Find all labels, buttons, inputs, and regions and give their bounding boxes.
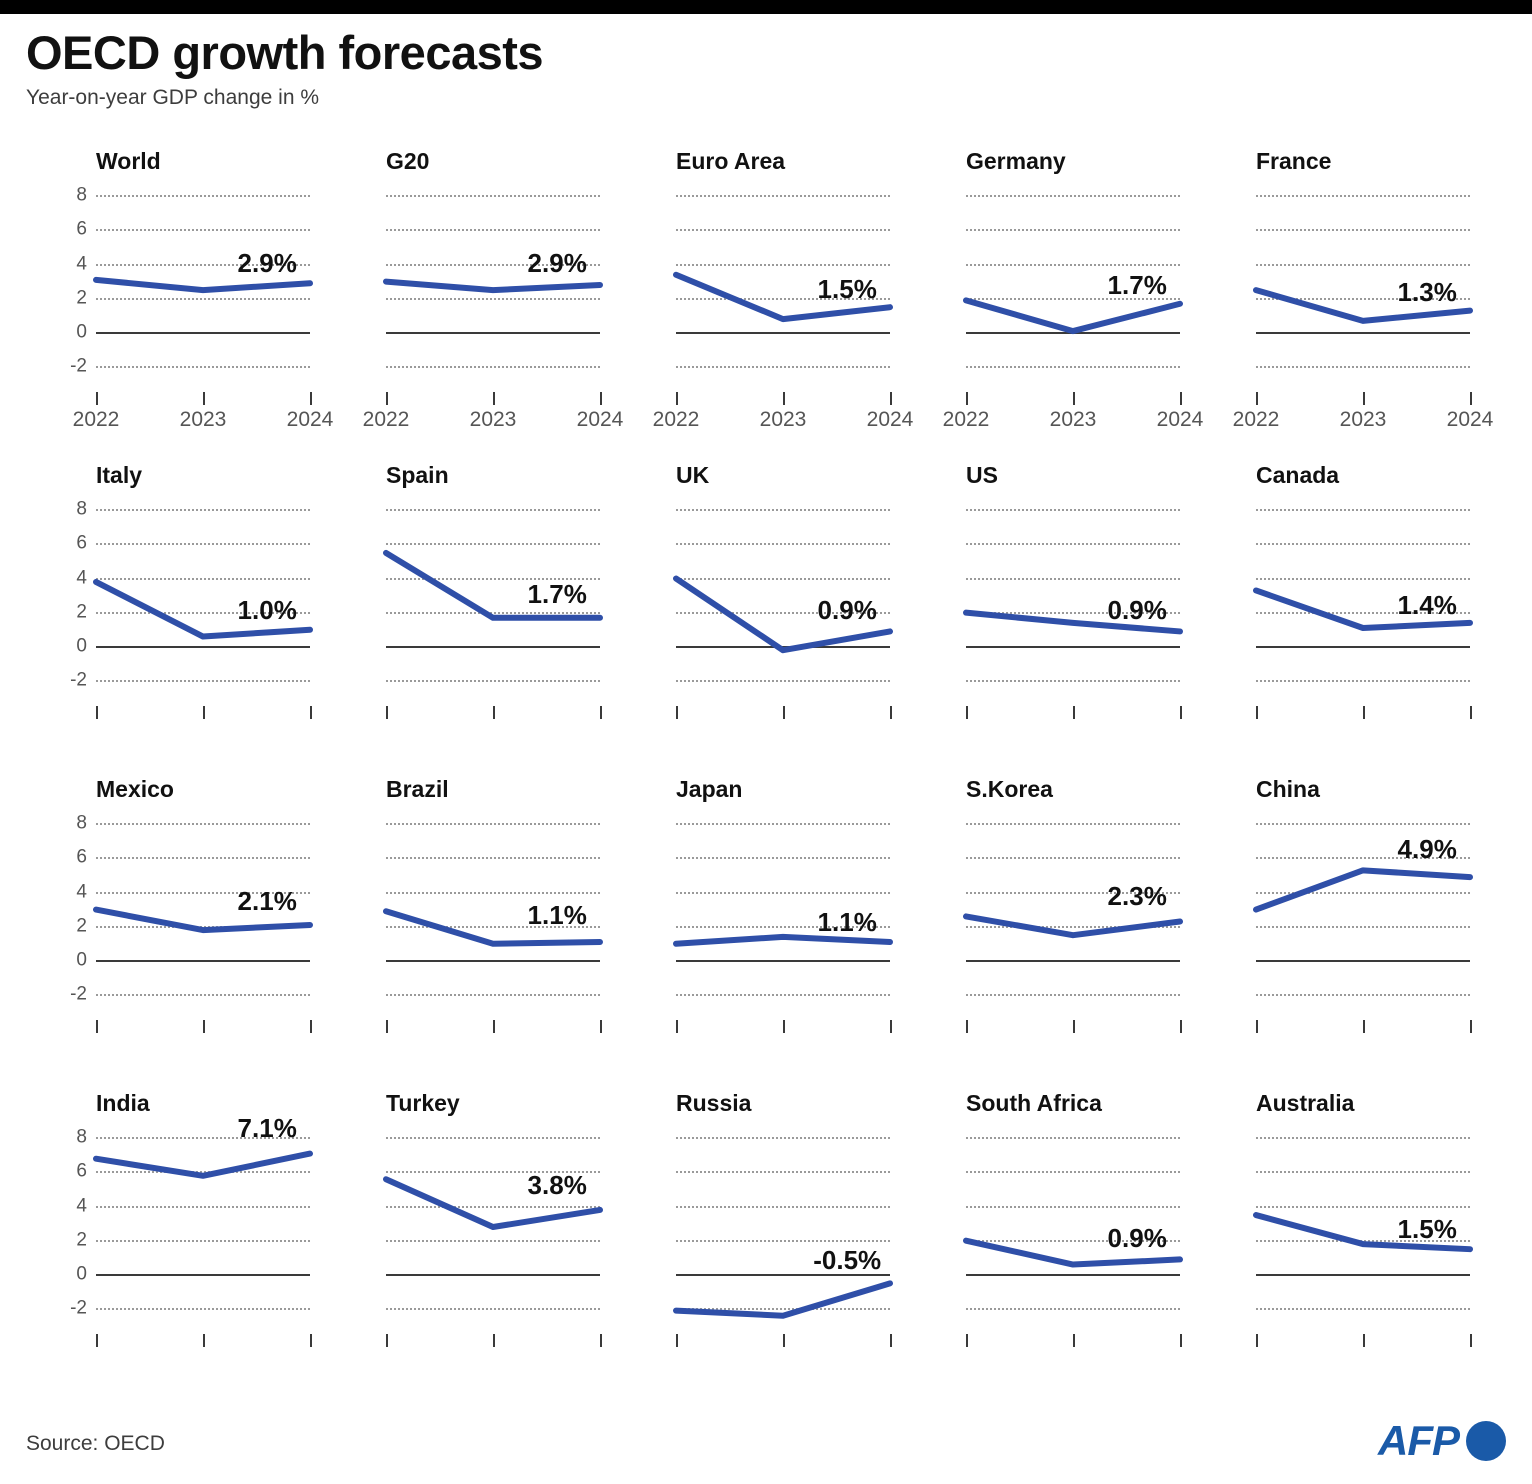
- x-axis-labels: 202220232024: [386, 408, 600, 436]
- x-axis-tick-label: 2024: [1157, 408, 1204, 432]
- y-axis-tick-label: 6: [76, 847, 87, 869]
- source-note: Source: OECD: [26, 1432, 165, 1456]
- x-axis-tick: [1180, 1020, 1182, 1033]
- plot-area: 1.7%: [966, 186, 1180, 384]
- y-axis-tick-label: 8: [76, 813, 87, 835]
- x-axis-tick: [1180, 1334, 1182, 1347]
- afp-wordmark: AFP: [1378, 1420, 1459, 1462]
- y-axis-tick-label: 0: [76, 1263, 87, 1285]
- x-axis-tick: [676, 1334, 678, 1347]
- series-line: [386, 186, 600, 384]
- x-axis-tick-label: 2023: [470, 408, 517, 432]
- panel-title: Turkey: [386, 1090, 460, 1117]
- x-axis-tick: [1256, 1334, 1258, 1347]
- x-axis-tick-label: 2024: [287, 408, 334, 432]
- x-axis-ticks: [676, 1334, 890, 1348]
- y-axis-tick-label: 6: [76, 1161, 87, 1183]
- plot-area: 86420-21.0%: [96, 500, 310, 698]
- x-axis-tick: [966, 1020, 968, 1033]
- y-axis-tick-label: -2: [70, 1297, 87, 1319]
- page-subtitle: Year-on-year GDP change in %: [26, 86, 1532, 110]
- x-axis-tick: [676, 1020, 678, 1033]
- chart-panel: India86420-27.1%: [46, 1082, 336, 1396]
- x-axis-tick: [1073, 1334, 1075, 1347]
- x-axis-tick: [783, 392, 785, 405]
- x-axis-ticks: [1256, 1334, 1470, 1348]
- x-axis-tick: [310, 1334, 312, 1347]
- x-axis-tick: [1256, 1020, 1258, 1033]
- panel-title: Italy: [96, 462, 142, 489]
- plot-area: 86420-22.9%: [96, 186, 310, 384]
- y-axis-tick-label: 6: [76, 533, 87, 555]
- x-axis-tick-label: 2024: [867, 408, 914, 432]
- x-axis-tick: [1256, 706, 1258, 719]
- plot-area: 0.9%: [676, 500, 890, 698]
- y-axis-tick-label: 6: [76, 219, 87, 241]
- x-axis-tick: [1470, 1020, 1472, 1033]
- x-axis-tick: [386, 706, 388, 719]
- x-axis-tick-label: 2022: [943, 408, 990, 432]
- x-axis-tick: [493, 392, 495, 405]
- x-axis-tick-label: 2022: [73, 408, 120, 432]
- top-black-bar: [0, 0, 1532, 14]
- panel-title: Australia: [1256, 1090, 1354, 1117]
- panel-title: India: [96, 1090, 150, 1117]
- x-axis-labels: 202220232024: [1256, 408, 1470, 436]
- chart-panel: Brazil1.1%: [336, 768, 626, 1082]
- plot-area: 86420-22.1%: [96, 814, 310, 1012]
- x-axis-tick: [1363, 392, 1365, 405]
- value-label: 1.1%: [818, 907, 877, 938]
- x-axis-tick: [890, 1334, 892, 1347]
- x-axis-tick: [310, 392, 312, 405]
- plot-area: 4.9%: [1256, 814, 1470, 1012]
- value-label: 4.9%: [1398, 834, 1457, 865]
- y-axis-tick-label: 0: [76, 949, 87, 971]
- chart-panel: Mexico86420-22.1%: [46, 768, 336, 1082]
- x-axis-tick: [1470, 1334, 1472, 1347]
- series-line: [966, 814, 1180, 1012]
- plot-area: 2.9%: [386, 186, 600, 384]
- page-title: OECD growth forecasts: [26, 28, 1532, 79]
- chart-panel: China4.9%: [1206, 768, 1496, 1082]
- plot-area: 1.7%: [386, 500, 600, 698]
- x-axis-tick: [1363, 1334, 1365, 1347]
- x-axis-tick: [493, 706, 495, 719]
- x-axis-tick: [1363, 706, 1365, 719]
- panel-title: Brazil: [386, 776, 449, 803]
- afp-logo: AFP: [1378, 1420, 1506, 1462]
- value-label: 1.4%: [1398, 590, 1457, 621]
- y-axis-tick-label: -2: [70, 669, 87, 691]
- chart-panel: Euro Area1.5%202220232024: [626, 140, 916, 454]
- y-axis-tick-label: 4: [76, 253, 87, 275]
- y-axis-tick-label: 4: [76, 567, 87, 589]
- x-axis-tick-label: 2023: [760, 408, 807, 432]
- x-axis-tick: [890, 1020, 892, 1033]
- x-axis-labels: 202220232024: [96, 408, 310, 436]
- chart-panel: US0.9%: [916, 454, 1206, 768]
- x-axis-tick: [676, 392, 678, 405]
- x-axis-tick: [203, 1020, 205, 1033]
- x-axis-ticks: [966, 392, 1180, 406]
- y-axis-tick-label: 0: [76, 635, 87, 657]
- x-axis-tick: [783, 1334, 785, 1347]
- chart-panel: Japan1.1%: [626, 768, 916, 1082]
- x-axis-labels: 202220232024: [966, 408, 1180, 436]
- value-label: 1.1%: [528, 900, 587, 931]
- x-axis-ticks: [1256, 392, 1470, 406]
- panel-title: China: [1256, 776, 1320, 803]
- afp-dot-icon: [1466, 1421, 1506, 1461]
- x-axis-tick: [1180, 392, 1182, 405]
- x-axis-tick: [493, 1020, 495, 1033]
- chart-panel: France1.3%202220232024: [1206, 140, 1496, 454]
- plot-area: 1.5%: [1256, 1128, 1470, 1326]
- chart-panel: Germany1.7%202220232024: [916, 140, 1206, 454]
- x-axis-tick: [310, 706, 312, 719]
- y-axis-tick-label: 2: [76, 1229, 87, 1251]
- x-axis-tick: [676, 706, 678, 719]
- value-label: -0.5%: [813, 1245, 881, 1276]
- chart-panel-grid: World86420-22.9%202220232024G202.9%20222…: [0, 140, 1532, 1396]
- y-axis-tick-label: 4: [76, 881, 87, 903]
- x-axis-tick: [890, 706, 892, 719]
- value-label: 2.3%: [1108, 881, 1167, 912]
- x-axis-tick: [96, 1020, 98, 1033]
- value-label: 2.9%: [238, 248, 297, 279]
- x-axis-tick-label: 2023: [1050, 408, 1097, 432]
- y-axis-tick-label: 8: [76, 1127, 87, 1149]
- x-axis-tick: [966, 706, 968, 719]
- y-axis-tick-label: 4: [76, 1195, 87, 1217]
- value-label: 2.1%: [238, 886, 297, 917]
- plot-area: 1.4%: [1256, 500, 1470, 698]
- x-axis-tick: [1073, 706, 1075, 719]
- footer: Source: OECD AFP: [0, 1414, 1532, 1484]
- value-label: 1.5%: [1398, 1214, 1457, 1245]
- x-axis-ticks: [1256, 1020, 1470, 1034]
- panel-title: Russia: [676, 1090, 751, 1117]
- x-axis-ticks: [386, 706, 600, 720]
- x-axis-tick: [386, 1020, 388, 1033]
- x-axis-tick: [1073, 392, 1075, 405]
- value-label: 1.0%: [238, 595, 297, 626]
- x-axis-tick: [96, 1334, 98, 1347]
- x-axis-ticks: [676, 1020, 890, 1034]
- x-axis-tick-label: 2024: [1447, 408, 1494, 432]
- x-axis-tick: [600, 1334, 602, 1347]
- x-axis-tick: [1470, 392, 1472, 405]
- x-axis-tick: [386, 392, 388, 405]
- chart-panel: Australia1.5%: [1206, 1082, 1496, 1396]
- x-axis-tick-label: 2022: [1233, 408, 1280, 432]
- panel-title: France: [1256, 148, 1331, 175]
- x-axis-tick: [966, 1334, 968, 1347]
- panel-title: US: [966, 462, 998, 489]
- x-axis-ticks: [966, 706, 1180, 720]
- value-label: 0.9%: [1108, 595, 1167, 626]
- chart-panel: Russia-0.5%: [626, 1082, 916, 1396]
- chart-panel: South Africa0.9%: [916, 1082, 1206, 1396]
- x-axis-tick: [890, 392, 892, 405]
- value-label: 3.8%: [528, 1170, 587, 1201]
- x-axis-tick-label: 2022: [363, 408, 410, 432]
- x-axis-tick-label: 2023: [1340, 408, 1387, 432]
- y-axis-tick-label: 2: [76, 601, 87, 623]
- chart-panel: Canada1.4%: [1206, 454, 1496, 768]
- panel-title: Canada: [1256, 462, 1339, 489]
- x-axis-tick: [1256, 392, 1258, 405]
- chart-panel: S.Korea2.3%: [916, 768, 1206, 1082]
- panel-title: G20: [386, 148, 429, 175]
- chart-panel: Spain1.7%: [336, 454, 626, 768]
- plot-area: 1.5%: [676, 186, 890, 384]
- plot-area: 86420-27.1%: [96, 1128, 310, 1326]
- plot-area: 1.1%: [386, 814, 600, 1012]
- x-axis-tick: [493, 1334, 495, 1347]
- value-label: 2.9%: [528, 248, 587, 279]
- plot-area: 1.1%: [676, 814, 890, 1012]
- x-axis-tick: [96, 706, 98, 719]
- chart-panel: G202.9%202220232024: [336, 140, 626, 454]
- x-axis-tick: [783, 1020, 785, 1033]
- x-axis-tick: [600, 1020, 602, 1033]
- value-label: 1.7%: [1108, 270, 1167, 301]
- chart-panel: Turkey3.8%: [336, 1082, 626, 1396]
- x-axis-tick: [1073, 1020, 1075, 1033]
- panel-title: World: [96, 148, 161, 175]
- x-axis-tick: [600, 392, 602, 405]
- x-axis-ticks: [966, 1334, 1180, 1348]
- y-axis-tick-label: 8: [76, 185, 87, 207]
- plot-area: 3.8%: [386, 1128, 600, 1326]
- panel-title: S.Korea: [966, 776, 1053, 803]
- value-label: 1.3%: [1398, 277, 1457, 308]
- series-line: [96, 186, 310, 384]
- header: OECD growth forecasts Year-on-year GDP c…: [0, 14, 1532, 110]
- x-axis-tick: [600, 706, 602, 719]
- plot-area: 2.3%: [966, 814, 1180, 1012]
- panel-title: South Africa: [966, 1090, 1102, 1117]
- x-axis-tick-label: 2023: [180, 408, 227, 432]
- y-axis-tick-label: 2: [76, 287, 87, 309]
- x-axis-tick-label: 2024: [577, 408, 624, 432]
- y-axis-tick-label: 2: [76, 915, 87, 937]
- x-axis-tick: [203, 706, 205, 719]
- plot-area: -0.5%: [676, 1128, 890, 1326]
- chart-panel: Italy86420-21.0%: [46, 454, 336, 768]
- x-axis-ticks: [676, 392, 890, 406]
- chart-panel: World86420-22.9%202220232024: [46, 140, 336, 454]
- y-axis-tick-label: 8: [76, 499, 87, 521]
- series-line: [386, 1128, 600, 1326]
- plot-area: 1.3%: [1256, 186, 1470, 384]
- x-axis-tick-label: 2022: [653, 408, 700, 432]
- x-axis-tick: [783, 706, 785, 719]
- panel-title: UK: [676, 462, 709, 489]
- x-axis-tick: [1470, 706, 1472, 719]
- y-axis-tick-label: -2: [70, 983, 87, 1005]
- value-label: 0.9%: [1108, 1223, 1167, 1254]
- y-axis-tick-label: -2: [70, 355, 87, 377]
- panel-title: Spain: [386, 462, 449, 489]
- x-axis-tick: [966, 392, 968, 405]
- value-label: 1.7%: [528, 579, 587, 610]
- x-axis-labels: 202220232024: [676, 408, 890, 436]
- x-axis-tick: [203, 392, 205, 405]
- panel-title: Mexico: [96, 776, 174, 803]
- value-label: 0.9%: [818, 595, 877, 626]
- x-axis-ticks: [96, 392, 310, 406]
- value-label: 1.5%: [818, 274, 877, 305]
- y-axis-tick-label: 0: [76, 321, 87, 343]
- x-axis-ticks: [386, 392, 600, 406]
- x-axis-ticks: [966, 1020, 1180, 1034]
- x-axis-ticks: [1256, 706, 1470, 720]
- panel-title: Japan: [676, 776, 742, 803]
- x-axis-ticks: [96, 1020, 310, 1034]
- x-axis-ticks: [386, 1020, 600, 1034]
- x-axis-ticks: [96, 1334, 310, 1348]
- panel-title: Euro Area: [676, 148, 785, 175]
- plot-area: 0.9%: [966, 1128, 1180, 1326]
- x-axis-tick: [310, 1020, 312, 1033]
- x-axis-ticks: [676, 706, 890, 720]
- value-label: 7.1%: [238, 1113, 297, 1144]
- x-axis-ticks: [386, 1334, 600, 1348]
- x-axis-tick: [203, 1334, 205, 1347]
- series-line: [676, 1128, 890, 1326]
- plot-area: 0.9%: [966, 500, 1180, 698]
- series-line: [96, 1128, 310, 1326]
- panel-title: Germany: [966, 148, 1066, 175]
- x-axis-tick: [96, 392, 98, 405]
- x-axis-tick: [1363, 1020, 1365, 1033]
- chart-panel: UK0.9%: [626, 454, 916, 768]
- x-axis-tick: [1180, 706, 1182, 719]
- x-axis-tick: [386, 1334, 388, 1347]
- x-axis-ticks: [96, 706, 310, 720]
